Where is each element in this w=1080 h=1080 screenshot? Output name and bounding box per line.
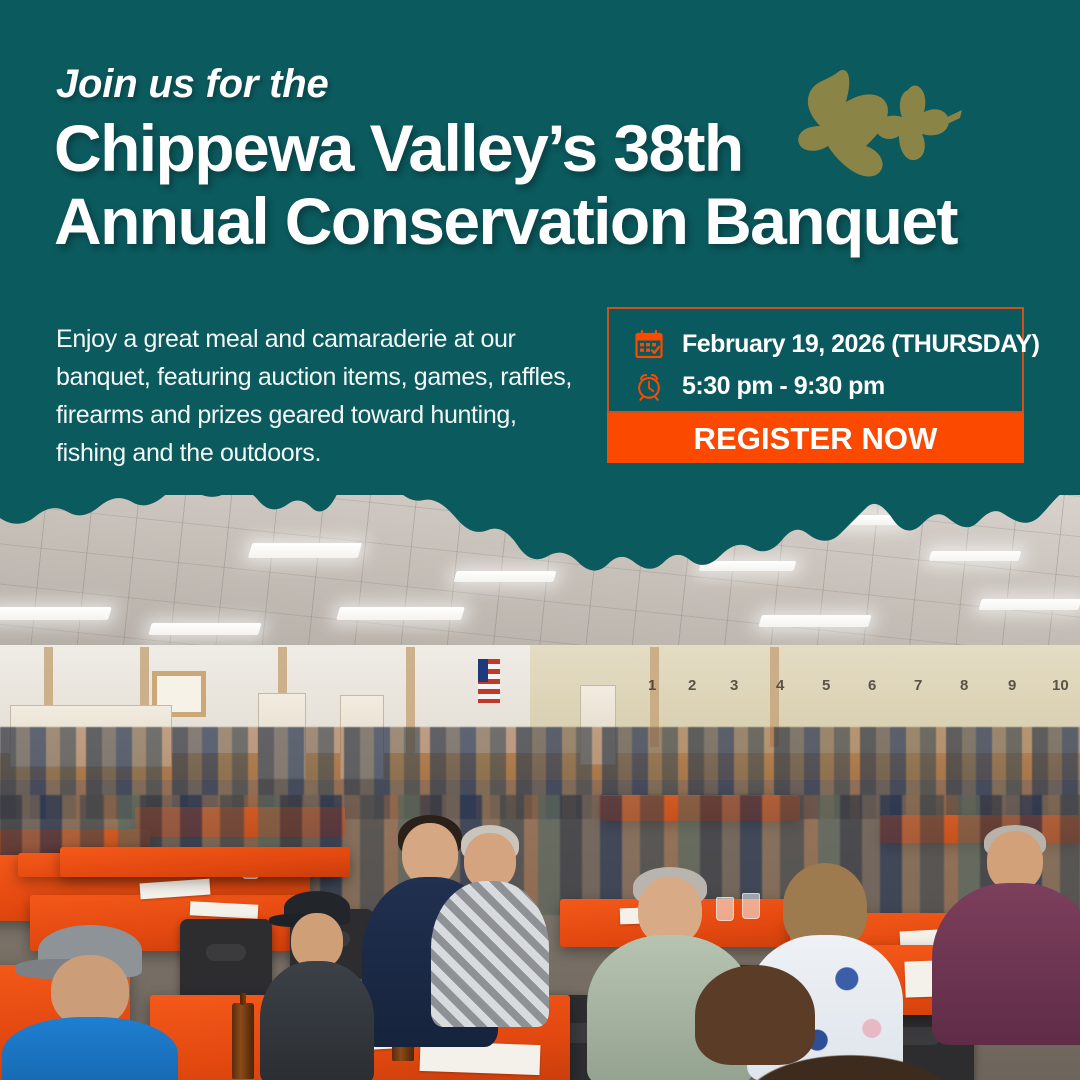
station-number: 5: [822, 677, 830, 694]
alarm-clock-icon: [629, 366, 669, 406]
event-info-card: February 19, 2026 (THURSDAY) 5:30 pm - 9…: [607, 307, 1024, 463]
calendar-icon: [629, 324, 669, 364]
event-time-row: 5:30 pm - 9:30 pm: [609, 365, 1022, 407]
event-details-box: February 19, 2026 (THURSDAY) 5:30 pm - 9…: [607, 307, 1024, 413]
torso: [431, 881, 549, 1027]
station-number: 2: [688, 677, 696, 694]
eyebrow-text: Join us for the: [56, 62, 329, 107]
station-number: 6: [868, 677, 876, 694]
torso: [260, 961, 374, 1080]
person: [430, 825, 550, 1025]
station-number: 8: [960, 677, 968, 694]
description-text: Enjoy a great meal and camaraderie at ou…: [56, 320, 581, 472]
station-number: 9: [1008, 677, 1016, 694]
station-number: 3: [730, 677, 738, 694]
event-time: 5:30 pm - 9:30 pm: [682, 372, 885, 401]
register-now-button[interactable]: REGISTER NOW: [607, 413, 1024, 463]
station-number: 1: [648, 677, 656, 694]
station-number: 4: [776, 677, 784, 694]
person: [930, 825, 1080, 1045]
station-number: 7: [914, 677, 922, 694]
person: [258, 891, 376, 1080]
banquet-table: [60, 847, 350, 877]
station-number: 10: [1052, 677, 1069, 694]
headline-line-1: Chippewa Valley’s 38th: [54, 111, 743, 185]
headline-line-2: Annual Conservation Banquet: [54, 185, 1014, 258]
beer-bottle: [232, 1003, 254, 1079]
american-flag: [478, 659, 500, 703]
flag-canton: [478, 659, 488, 682]
head: [987, 831, 1043, 891]
person: [0, 925, 180, 1080]
event-date: February 19, 2026 (THURSDAY): [682, 330, 1039, 359]
foreground-head: [700, 1015, 1000, 1080]
event-date-row: February 19, 2026 (THURSDAY): [609, 323, 1022, 365]
flying-birds-logo: [786, 62, 962, 192]
promotional-poster: 1 2 3 4 5 6 7 8 9 10: [0, 0, 1080, 1080]
torso: [2, 1017, 178, 1080]
